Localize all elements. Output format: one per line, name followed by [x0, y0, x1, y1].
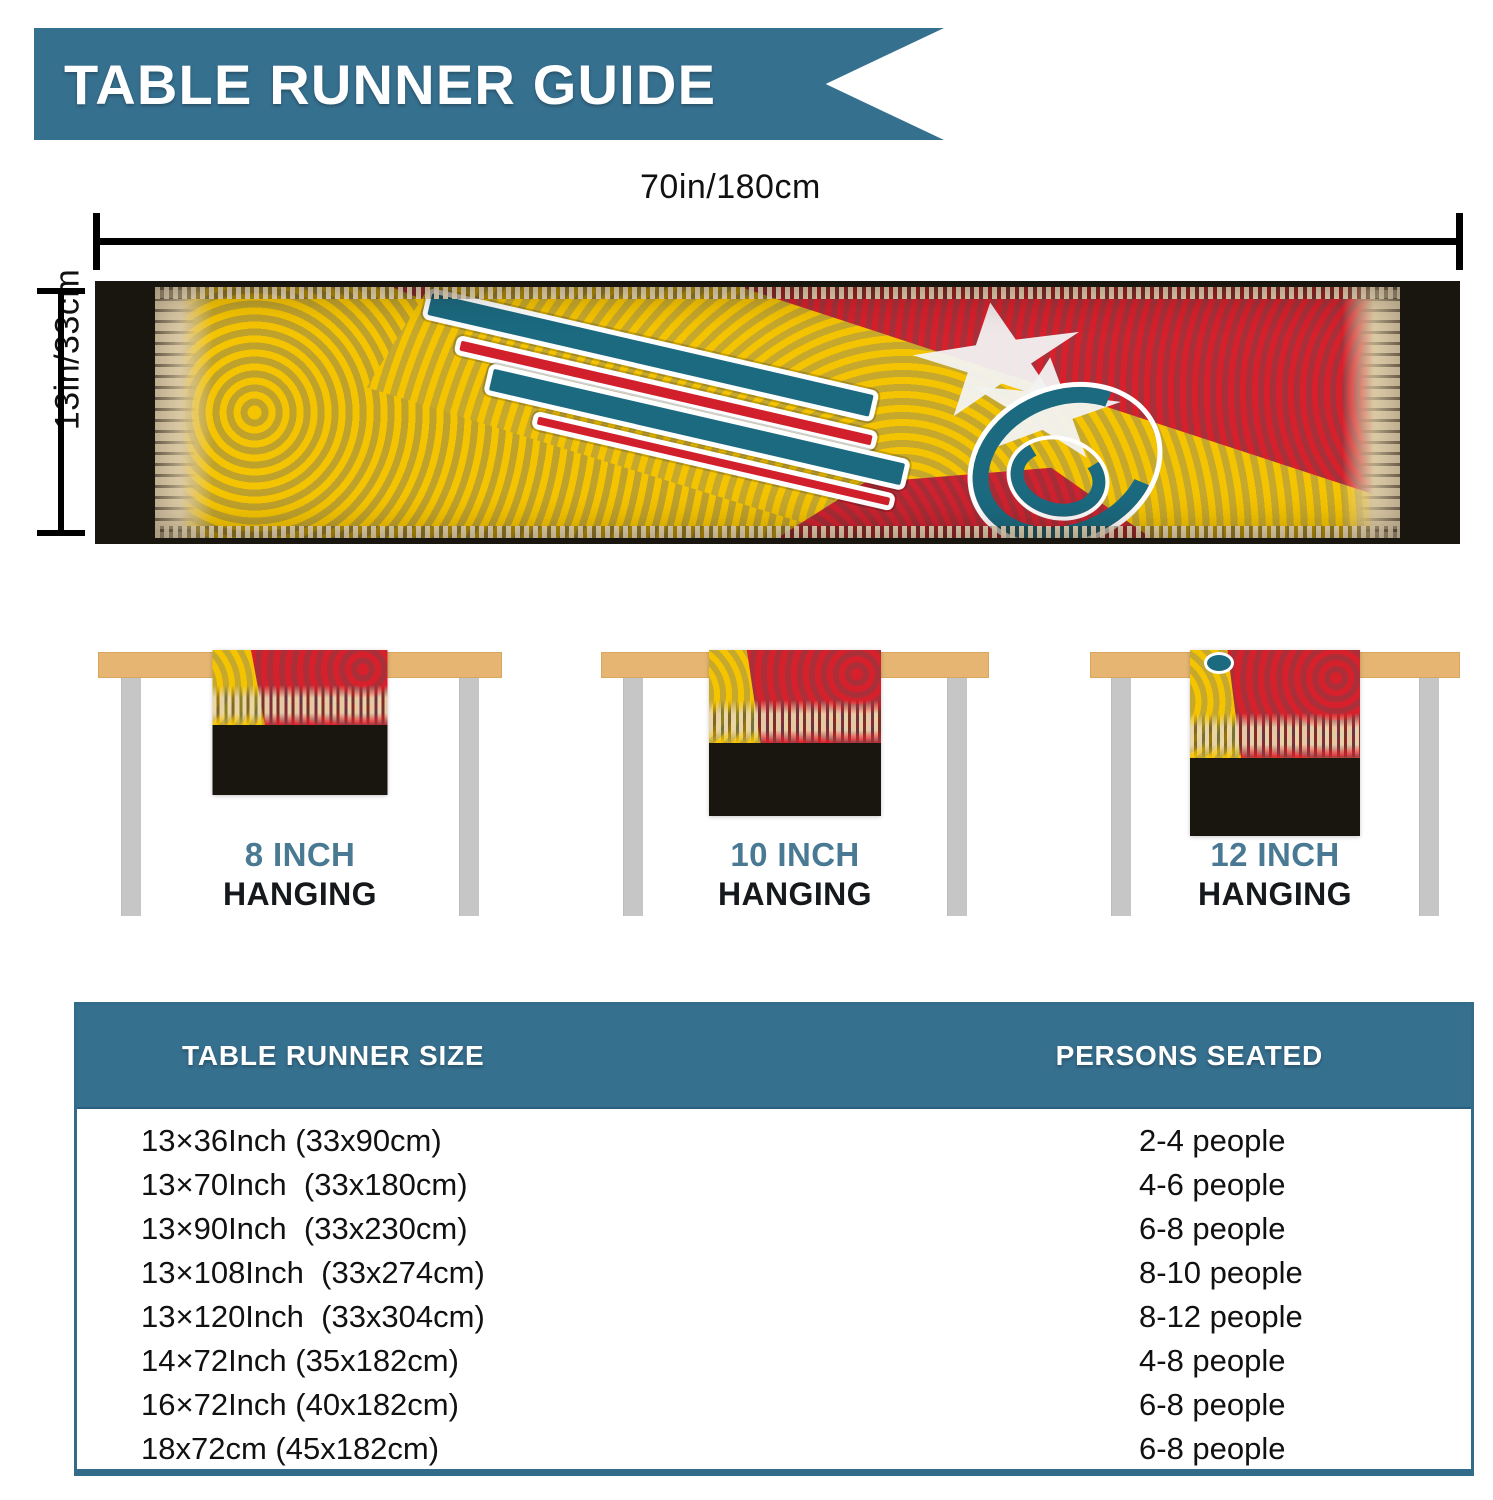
hanging-inch-label: 10 INCH: [575, 836, 1015, 874]
hanging-word-label: HANGING: [70, 876, 530, 913]
table-row: 13×90Inch (33x230cm) 6-8 people: [77, 1211, 1471, 1255]
hanging-word-label: HANGING: [575, 876, 1015, 913]
table-row: 14×72Inch (35x182cm) 4-8 people: [77, 1343, 1471, 1387]
cell-size: 13×120Inch (33x304cm): [77, 1299, 817, 1335]
infographic-page: TABLE RUNNER GUIDE 70in/180cm 13in/33cm: [0, 0, 1493, 1500]
cell-people: 2-4 people: [817, 1123, 1471, 1159]
size-chart: TABLE RUNNER SIZE PERSONS SEATED 13×36In…: [74, 1002, 1474, 1476]
panel-caption: 8 INCH HANGING: [70, 836, 530, 913]
runner-swatch: [213, 650, 388, 795]
height-dimension-label: 13in/33cm: [49, 230, 88, 470]
size-chart-body: 13×36Inch (33x90cm) 2-4 people 13×70Inch…: [77, 1109, 1471, 1475]
cell-size: 13×90Inch (33x230cm): [77, 1211, 817, 1247]
cell-people: 4-8 people: [817, 1343, 1471, 1379]
width-dimension-label: 70in/180cm: [640, 168, 821, 207]
table-row: 13×120Inch (33x304cm) 8-12 people: [77, 1299, 1471, 1343]
page-title: TABLE RUNNER GUIDE: [34, 52, 716, 117]
hanging-inch-label: 8 INCH: [70, 836, 530, 874]
swatch-fray: [1190, 713, 1360, 758]
table-row: 13×36Inch (33x90cm) 2-4 people: [77, 1123, 1471, 1167]
cell-size: 13×70Inch (33x180cm): [77, 1167, 817, 1203]
panel-caption: 12 INCH HANGING: [1065, 836, 1485, 913]
panel-caption: 10 INCH HANGING: [575, 836, 1015, 913]
runner-artwork: [155, 287, 1400, 538]
cell-size: 13×108Inch (33x274cm): [77, 1255, 817, 1291]
width-dimension-line: [93, 238, 1463, 245]
hanging-panel: 8 INCH HANGING: [70, 600, 530, 950]
table-row: 16×72Inch (40x182cm) 6-8 people: [77, 1387, 1471, 1431]
artwork-script-lettering: [404, 327, 1176, 528]
cell-size: 13×36Inch (33x90cm): [77, 1123, 817, 1159]
hanging-word-label: HANGING: [1065, 876, 1485, 913]
cell-size: 18x72cm (45x182cm): [77, 1431, 817, 1467]
runner-swatch: [1190, 650, 1360, 836]
cell-size: 14×72Inch (35x182cm): [77, 1343, 817, 1379]
cell-people: 8-10 people: [817, 1255, 1471, 1291]
runner-swatch: [709, 650, 881, 816]
cell-people: 6-8 people: [817, 1431, 1471, 1467]
swatch-fray: [213, 685, 388, 726]
hanging-examples: 8 INCH HANGING 10 INCH HANGING: [0, 600, 1493, 950]
swatch-teal-detail: [1204, 652, 1234, 674]
swatch-fray: [709, 700, 881, 743]
cell-people: 6-8 people: [817, 1387, 1471, 1423]
cell-size: 16×72Inch (40x182cm): [77, 1387, 817, 1423]
hanging-inch-label: 12 INCH: [1065, 836, 1485, 874]
height-dimension-cap-bottom: [37, 530, 85, 536]
table-row: 18x72cm (45x182cm) 6-8 people: [77, 1431, 1471, 1475]
size-chart-header: TABLE RUNNER SIZE PERSONS SEATED: [77, 1005, 1471, 1109]
height-dimension-cap-top: [37, 288, 85, 294]
width-dimension-cap-left: [93, 213, 100, 270]
cell-people: 4-6 people: [817, 1167, 1471, 1203]
hanging-panel: 10 INCH HANGING: [575, 600, 1015, 950]
column-header-size: TABLE RUNNER SIZE: [182, 1040, 484, 1072]
cell-people: 8-12 people: [817, 1299, 1471, 1335]
table-row: 13×108Inch (33x274cm) 8-10 people: [77, 1255, 1471, 1299]
table-row: 13×70Inch (33x180cm) 4-6 people: [77, 1167, 1471, 1211]
product-runner-image: [95, 281, 1460, 544]
header-banner: TABLE RUNNER GUIDE: [34, 28, 944, 140]
width-dimension-cap-right: [1456, 213, 1463, 270]
height-dimension-line: [58, 288, 64, 536]
column-header-people: PERSONS SEATED: [1056, 1040, 1323, 1072]
cell-people: 6-8 people: [817, 1211, 1471, 1247]
hanging-panel: 12 INCH HANGING: [1065, 600, 1485, 950]
